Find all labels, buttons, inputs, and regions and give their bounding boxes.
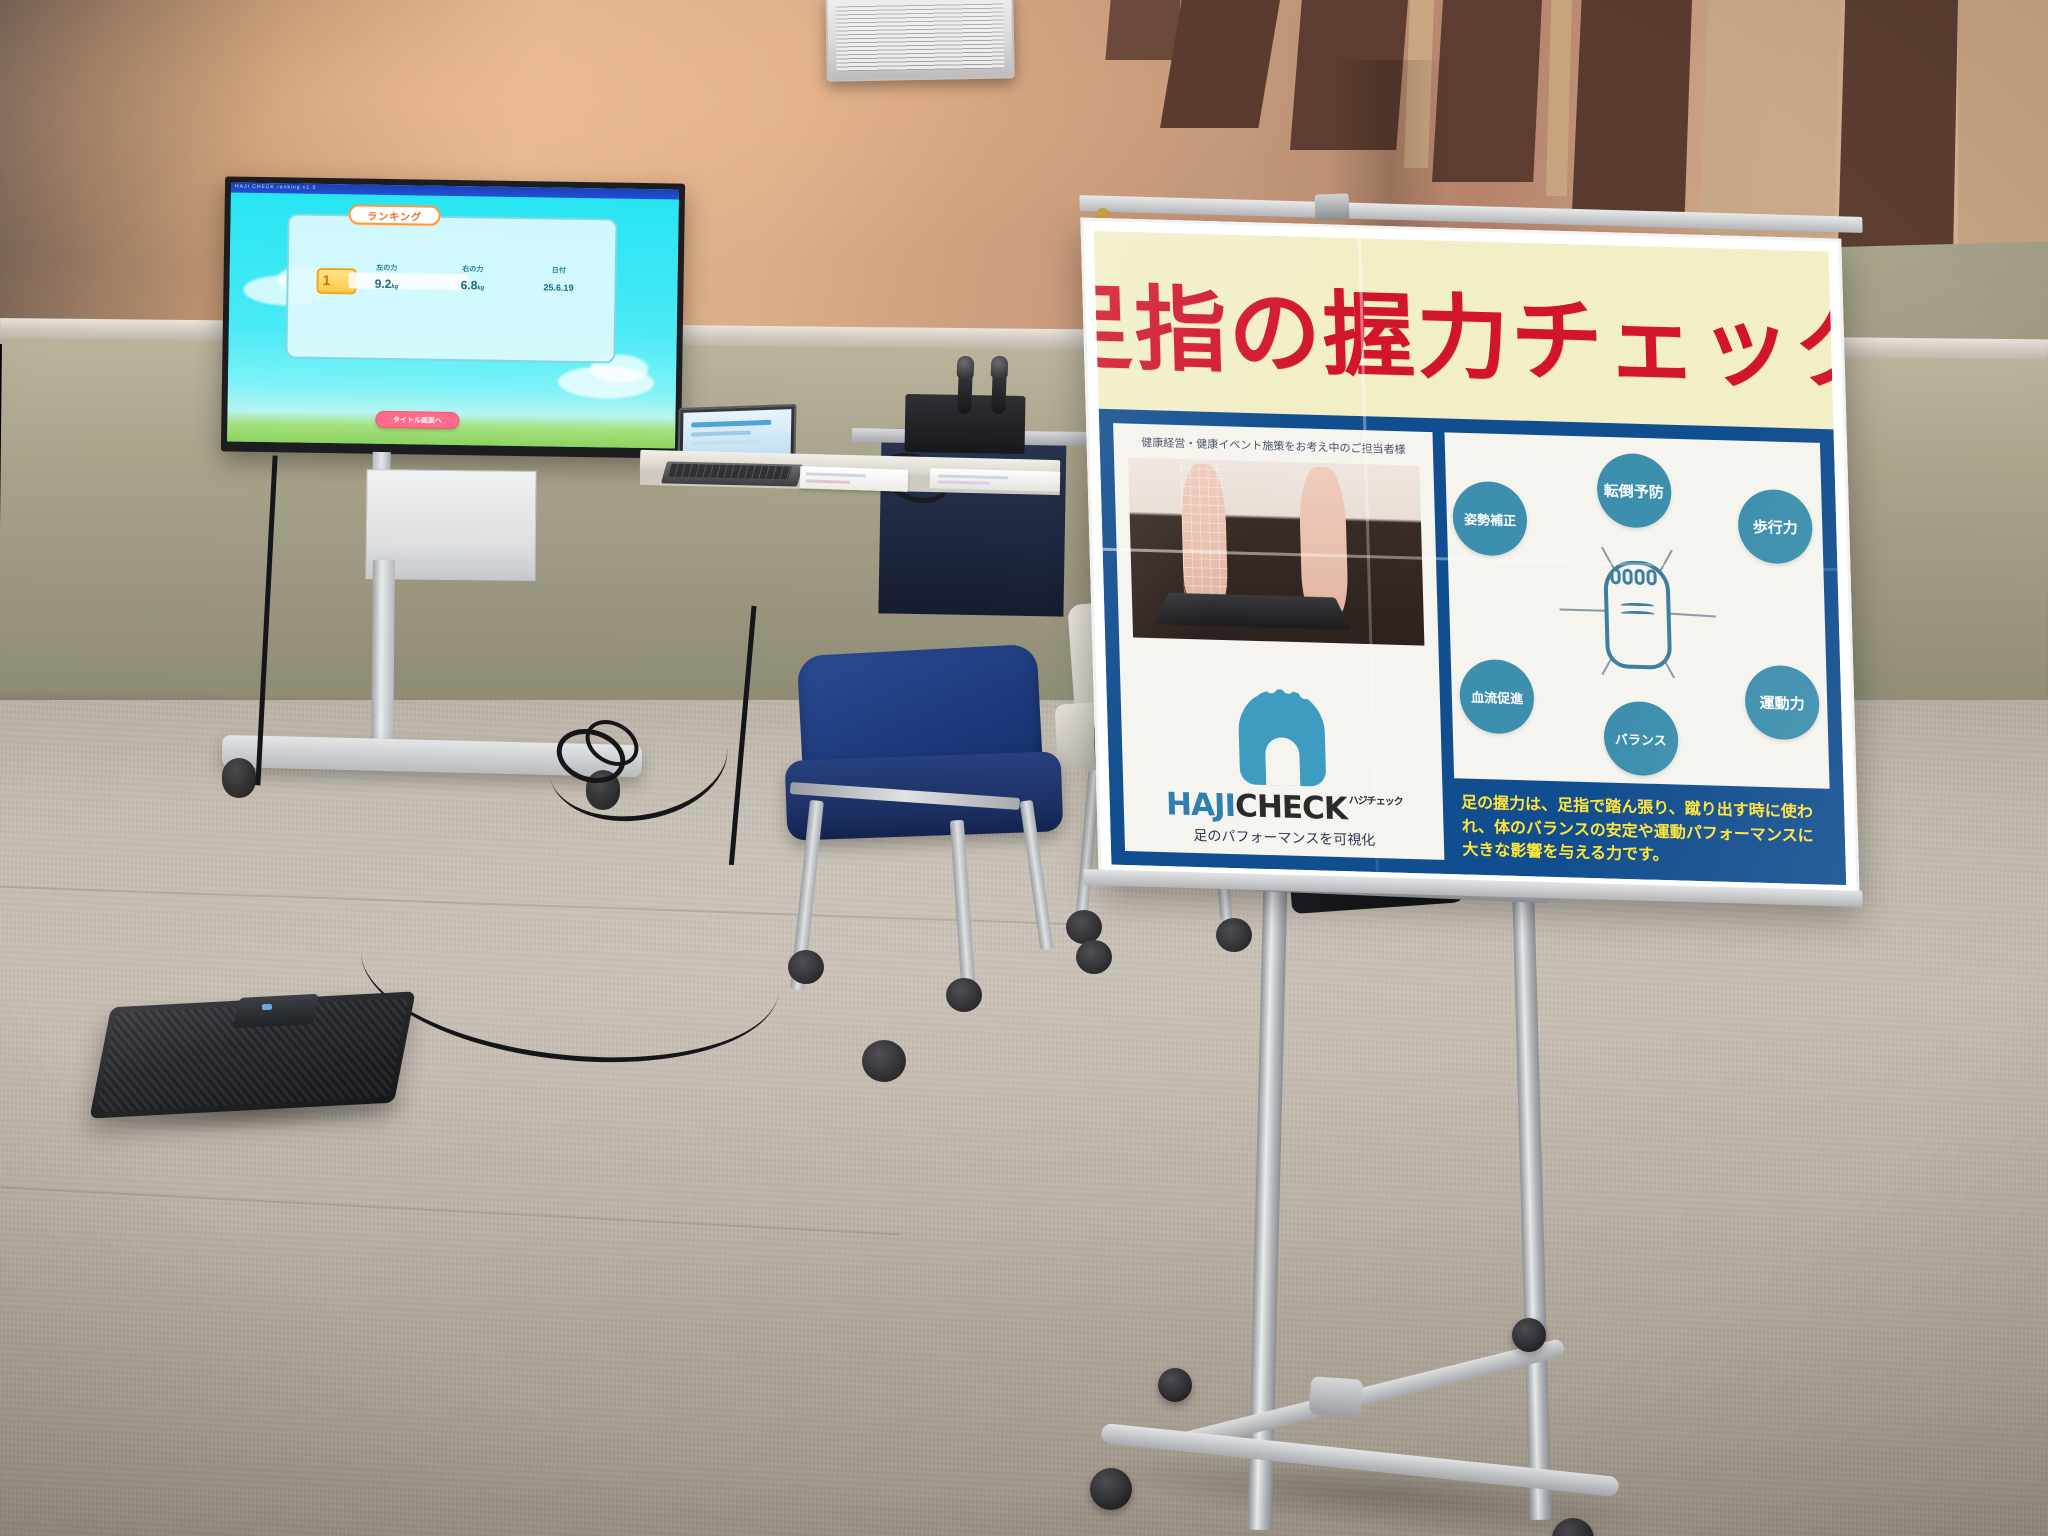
toe-dot: [1264, 678, 1277, 693]
toe-dot: [1298, 684, 1311, 699]
benefit-bubble-balance: バランス: [1603, 701, 1679, 777]
column-header-left: 左の力: [359, 263, 415, 274]
logo-wordmark: HAJICHECKハジチェック: [1123, 785, 1444, 830]
ranking-panel: 左の力 右の力 日付 9.2kg 6.8kg 25.6.19: [285, 213, 617, 363]
title-screen-button[interactable]: タイトル画面へ: [375, 411, 459, 429]
toe-row: [1610, 568, 1657, 585]
logo-haji: HAJI: [1166, 786, 1236, 824]
cell-left-value: 9.2kg: [358, 277, 414, 292]
tv-titlebar-text: HAJI CHECK ranking v1.0: [235, 184, 316, 191]
benefit-bubble-exercise: 運動力: [1744, 665, 1820, 741]
toe-dot: [1281, 679, 1294, 694]
poster-hanging-clip: [1315, 193, 1350, 220]
ranking-row: 9.2kg 6.8kg 25.6.19: [358, 277, 658, 296]
toe-dot: [1247, 682, 1260, 697]
poster-board: 足指の握力チェック 健康経営・健康イベント施策をお考え中のご担当者様: [1080, 218, 1859, 899]
tv-screen: HAJI CHECK ranking v1.0 左の力 右の力 日付 9.2kg…: [227, 182, 679, 448]
floor-cable: [729, 606, 861, 875]
paper-print: [938, 480, 990, 484]
screen-ui-bar: [691, 439, 761, 445]
arch-line: [1620, 611, 1654, 618]
stand-caster: [222, 758, 256, 798]
paper-print: [806, 479, 850, 484]
benefit-bubble-posture: 姿勢補正: [1452, 481, 1528, 557]
paper-print: [806, 472, 866, 477]
logo-check: CHECK: [1235, 788, 1348, 827]
bubble-label: 血流促進: [1471, 687, 1524, 707]
speaker-grill: [835, 3, 1004, 72]
cabinet-handle: [375, 558, 527, 565]
poster-title-banner: 足指の握力チェック: [1094, 231, 1834, 429]
photo-scene: HAJI CHECK ranking v1.0 左の力 右の力 日付 9.2kg…: [0, 0, 2048, 1536]
easel-caster: [1090, 1468, 1132, 1510]
poster-description-text: 足の握力は、足指で踏ん張り、蹴り出す時に使われ、体のバランスの安定や運動パフォー…: [1455, 789, 1832, 871]
wall-panel: [1572, 0, 1692, 212]
wall-panel: [1105, 0, 1180, 60]
bubble-label: 運動力: [1759, 692, 1805, 714]
leg-with-measure-grid: [1180, 463, 1228, 614]
microphone-head: [991, 356, 1009, 379]
poster-body: 健康経営・健康イベント施策をお考え中のご担当者様: [1099, 409, 1847, 885]
benefits-diagram: 転倒予防 歩行力 運動力 バランス: [1445, 432, 1830, 789]
chair-caster: [862, 1040, 906, 1082]
chair-caster: [946, 978, 982, 1012]
mat-sensor-module: [233, 994, 319, 1029]
haji-check-logo: HAJICHECKハジチェック 足のパフォーマンスを可視化: [1120, 685, 1444, 852]
mat-status-led: [262, 1004, 272, 1011]
column-header-date: 日付: [531, 265, 587, 276]
benefit-bubble-walking: 歩行力: [1737, 489, 1813, 565]
ranking-title-badge: ランキング: [348, 204, 440, 225]
foot-logo-icon: [1237, 688, 1326, 786]
poster-right-panel: 転倒予防 歩行力 運動力 バランス: [1445, 432, 1832, 870]
easel-base-hub: [1309, 1376, 1364, 1418]
paper-print: [938, 474, 1008, 479]
measurement-grid: [1180, 463, 1228, 614]
paper-stack: [930, 468, 1061, 492]
screen-ui-bar: [691, 431, 751, 437]
left-force-value: 9.2: [375, 277, 392, 291]
chair-caster: [788, 950, 824, 984]
right-force-unit: kg: [477, 285, 484, 291]
easel-caster: [1512, 1318, 1546, 1352]
bubble-label: バランス: [1615, 729, 1667, 749]
foot-icon: [1603, 560, 1672, 670]
tv-display: HAJI CHECK ranking v1.0 左の力 右の力 日付 9.2kg…: [221, 176, 685, 458]
poster-easel-assembly: 足指の握力チェック 健康経営・健康イベント施策をお考え中のご担当者様: [1060, 200, 1980, 1520]
bubble-label: 転倒予防: [1603, 479, 1664, 502]
bubble-label: 姿勢補正: [1464, 508, 1517, 528]
benefit-bubble-fall-prevention: 転倒予防: [1596, 453, 1672, 529]
easel-base-bar-back: [1174, 1338, 1566, 1452]
easel-post-right: [1510, 820, 1552, 1520]
column-header-right: 右の力: [445, 264, 501, 275]
screen-ui-bar: [691, 420, 771, 428]
poster-left-panel: 健康経営・健康イベント施策をお考え中のご担当者様: [1113, 423, 1445, 860]
paper-stack: [800, 466, 909, 492]
cell-right-value: 6.8kg: [444, 278, 500, 293]
poster-photo-caption: 健康経営・健康イベント施策をお考え中のご担当者様: [1113, 433, 1433, 458]
left-force-unit: kg: [391, 284, 398, 290]
ceiling-speaker: [825, 0, 1014, 82]
arch-line: [1620, 603, 1654, 610]
microphone-head: [957, 356, 975, 379]
easel-caster: [1158, 1368, 1192, 1402]
bubble-label: 歩行力: [1752, 515, 1798, 537]
poster-content: 足指の握力チェック 健康経営・健康イベント施策をお考え中のご担当者様: [1094, 231, 1847, 885]
cell-date-value: 25.6.19: [530, 282, 586, 293]
poster-heading: 足指の握力チェック: [1094, 252, 1847, 409]
right-force-value: 6.8: [461, 278, 478, 292]
tv-stand-pole: [371, 560, 395, 760]
benefit-bubble-circulation: 血流促進: [1459, 659, 1535, 735]
measuring-device-photo: [1155, 593, 1351, 630]
